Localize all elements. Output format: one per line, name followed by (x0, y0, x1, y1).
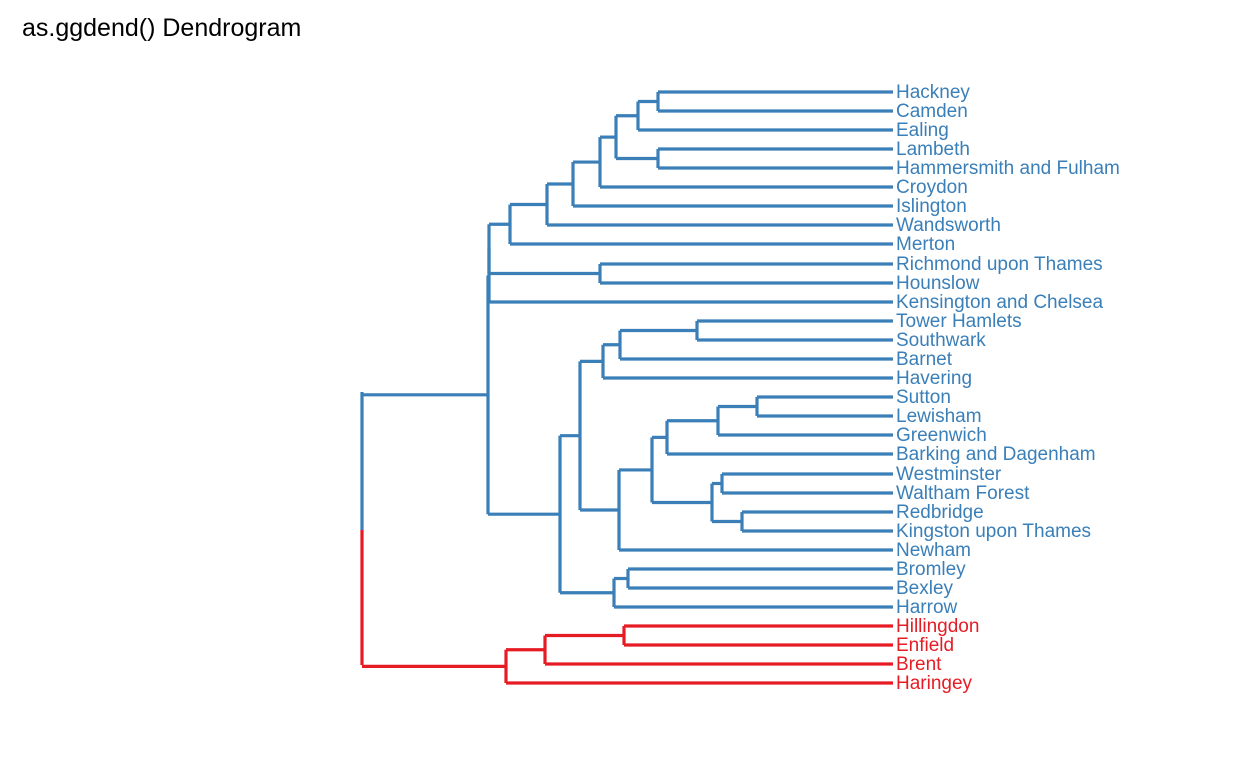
dendrogram-leaf-label: Croydon (896, 177, 968, 198)
dendrogram-leaf-label: Bexley (896, 578, 954, 599)
dendrogram-leaf-label: Ealing (896, 120, 949, 141)
dendrogram-leaf-label: Westminster (896, 464, 1002, 485)
dendrogram-leaf-label: Newham (896, 540, 971, 561)
dendrogram-leaf-label: Islington (896, 196, 967, 217)
dendrogram-canvas: HackneyCamdenEalingLambethHammersmith an… (0, 0, 1248, 768)
dendrogram-leaf-label: Lambeth (896, 139, 970, 160)
dendrogram-leaf-label: Tower Hamlets (896, 311, 1022, 332)
dendrogram-leaf-label: Redbridge (896, 502, 984, 523)
dendrogram-leaf-label: Kensington and Chelsea (896, 292, 1103, 313)
dendrogram-leaf-label: Greenwich (896, 425, 987, 446)
dendrogram-branches (362, 92, 893, 683)
dendrogram-leaf-label: Havering (896, 368, 972, 389)
dendrogram-plot: as.ggdend() Dendrogram HackneyCamdenEali… (0, 0, 1248, 768)
dendrogram-leaf-label: Haringey (896, 673, 973, 694)
dendrogram-leaf-labels: HackneyCamdenEalingLambethHammersmith an… (896, 82, 1120, 694)
dendrogram-leaf-label: Bromley (896, 559, 966, 580)
dendrogram-leaf-label: Lewisham (896, 406, 982, 427)
dendrogram-leaf-label: Hackney (896, 82, 970, 103)
dendrogram-leaf-label: Hammersmith and Fulham (896, 158, 1120, 179)
dendrogram-leaf-label: Southwark (896, 330, 986, 351)
dendrogram-leaf-label: Hillingdon (896, 616, 979, 637)
dendrogram-leaf-label: Kingston upon Thames (896, 521, 1091, 542)
dendrogram-leaf-label: Enfield (896, 635, 954, 656)
dendrogram-leaf-label: Hounslow (896, 273, 980, 294)
dendrogram-leaf-label: Richmond upon Thames (896, 254, 1103, 275)
dendrogram-leaf-label: Barking and Dagenham (896, 444, 1096, 465)
dendrogram-leaf-label: Sutton (896, 387, 951, 408)
dendrogram-leaf-label: Wandsworth (896, 215, 1001, 236)
dendrogram-leaf-label: Harrow (896, 597, 958, 618)
dendrogram-leaf-label: Barnet (896, 349, 953, 370)
dendrogram-leaf-label: Waltham Forest (896, 483, 1030, 504)
dendrogram-leaf-label: Merton (896, 234, 955, 255)
dendrogram-leaf-label: Brent (896, 654, 942, 675)
dendrogram-leaf-label: Camden (896, 101, 968, 122)
